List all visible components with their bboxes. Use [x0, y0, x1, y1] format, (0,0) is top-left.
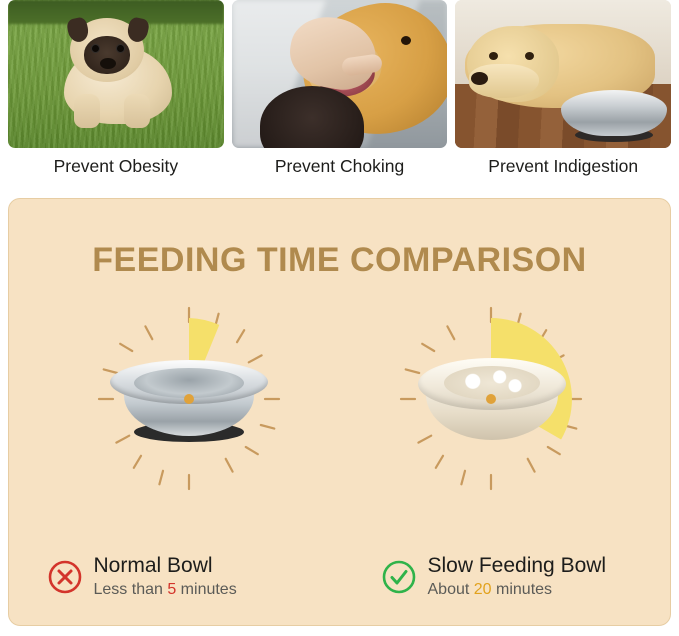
result-slow-feeding-bowl: Slow Feeding Bowl About 20 minutes: [382, 553, 632, 601]
normal-bowl-sub-prefix: Less than: [94, 581, 168, 598]
panel-title: FEEDING TIME COMPARISON: [9, 241, 670, 280]
pug-eye-right: [116, 44, 125, 53]
pug-eye-left: [91, 44, 100, 53]
slow-bowl-sub-prefix: About: [428, 581, 474, 598]
normal-bowl-sub-suffix: minutes: [176, 581, 236, 598]
slow-bowl-title: Slow Feeding Bowl: [428, 553, 607, 579]
floor-steel-bowl: [561, 90, 667, 136]
cross-icon: [48, 560, 82, 594]
slow-bowl-sub-value: 20: [474, 581, 492, 598]
slow-bowl-sub-suffix: minutes: [492, 581, 552, 598]
normal-bowl-text: Normal Bowl Less than 5 minutes: [94, 553, 237, 601]
result-row: Normal Bowl Less than 5 minutes Slow Fee…: [9, 553, 670, 601]
normal-dial-hub-svg: [94, 304, 284, 494]
photo-row: [8, 0, 671, 148]
check-icon: [382, 560, 416, 594]
slow-bowl-subtitle: About 20 minutes: [428, 579, 607, 601]
normal-bowl-sub-value: 5: [167, 581, 176, 598]
pug-snout: [100, 58, 116, 69]
product-infographic: Prevent Obesity Prevent Choking Prevent …: [0, 0, 679, 636]
normal-bowl-dial: [94, 304, 284, 494]
slow-bowl-text: Slow Feeding Bowl About 20 minutes: [428, 553, 607, 601]
dial-row: [9, 304, 670, 494]
pug-front-leg-right: [124, 94, 150, 128]
normal-bowl-title: Normal Bowl: [94, 553, 237, 579]
slow-bowl-dial: [396, 304, 586, 494]
caption-prevent-obesity: Prevent Obesity: [8, 156, 224, 177]
slow-dial-hub: [486, 394, 496, 404]
normal-dial-hub: [184, 394, 194, 404]
caption-prevent-choking: Prevent Choking: [232, 156, 448, 177]
feeding-time-comparison-panel: FEEDING TIME COMPARISON: [8, 198, 671, 626]
photo-prevent-choking: [232, 0, 448, 148]
photo-prevent-obesity: [8, 0, 224, 148]
normal-bowl-subtitle: Less than 5 minutes: [94, 579, 237, 601]
photo-prevent-indigestion: [455, 0, 671, 148]
caption-prevent-indigestion: Prevent Indigestion: [455, 156, 671, 177]
photo-captions: Prevent Obesity Prevent Choking Prevent …: [8, 156, 671, 177]
result-normal-bowl: Normal Bowl Less than 5 minutes: [48, 553, 298, 601]
slow-dial-hub-svg: [396, 304, 586, 494]
pug-front-leg-left: [74, 94, 100, 128]
